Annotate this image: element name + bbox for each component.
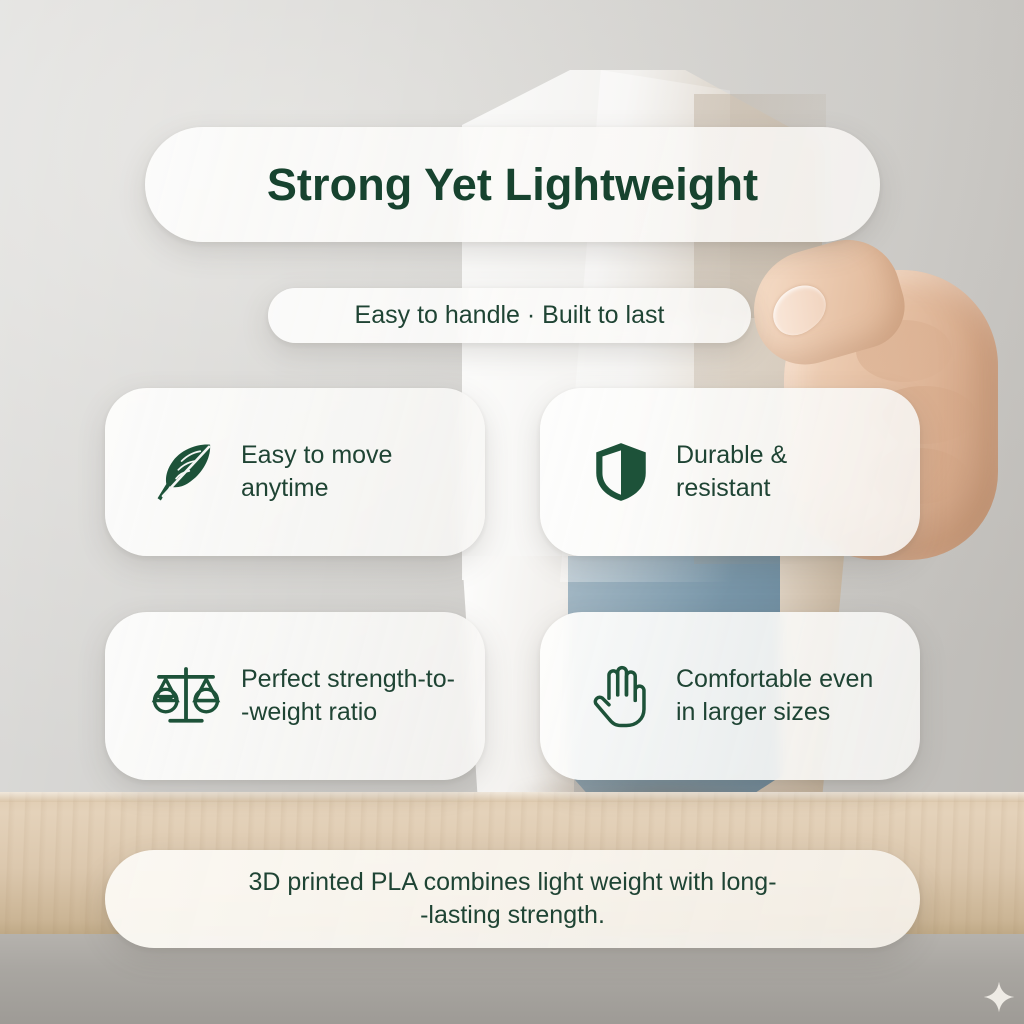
page-title: Strong Yet Lightweight [267,159,758,211]
shelf-top-edge [0,792,1024,802]
scales-icon [149,659,223,733]
feature-card-comfortable-larger-sizes[interactable]: Comfortable even in larger sizes [540,612,920,780]
shield-icon [584,435,658,509]
title-pill: Strong Yet Lightweight [145,127,880,242]
hand-icon [584,659,658,733]
feature-label: Easy to move anytime [241,439,392,506]
feature-card-strength-to-weight[interactable]: Perfect strength-to- -weight ratio [105,612,485,780]
footer-text: 3D printed PLA combines light weight wit… [248,866,776,933]
page-subtitle: Easy to handle · Built to last [355,301,665,330]
feather-icon [149,435,223,509]
feature-label: Perfect strength-to- -weight ratio [241,663,455,730]
sparkle-icon [982,980,1016,1014]
thumb-nail [764,275,835,344]
feature-card-durable-resistant[interactable]: Durable & resistant [540,388,920,556]
feature-card-easy-to-move[interactable]: Easy to move anytime [105,388,485,556]
feature-label: Comfortable even in larger sizes [676,663,873,730]
subtitle-pill: Easy to handle · Built to last [268,288,751,343]
footer-banner: 3D printed PLA combines light weight wit… [105,850,920,948]
feature-label: Durable & resistant [676,439,787,506]
